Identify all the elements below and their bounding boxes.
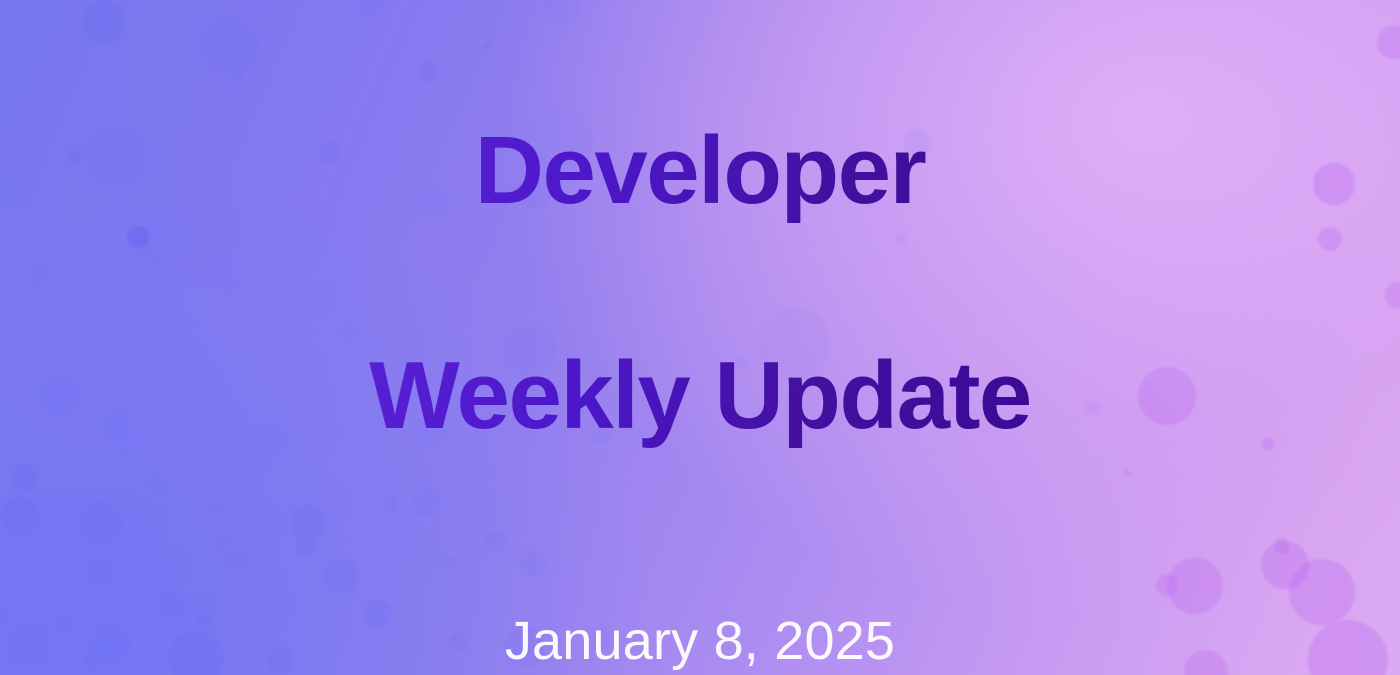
weekly-update-banner: Developer Weekly Update January 8, 2025 (0, 0, 1400, 675)
banner-content: Developer Weekly Update January 8, 2025 (0, 0, 1400, 675)
page-title: Developer Weekly Update (369, 3, 1031, 569)
page-title-line-1: Developer (369, 115, 1031, 227)
issue-date: January 8, 2025 (505, 610, 895, 672)
page-title-line-2: Weekly Update (369, 340, 1031, 452)
